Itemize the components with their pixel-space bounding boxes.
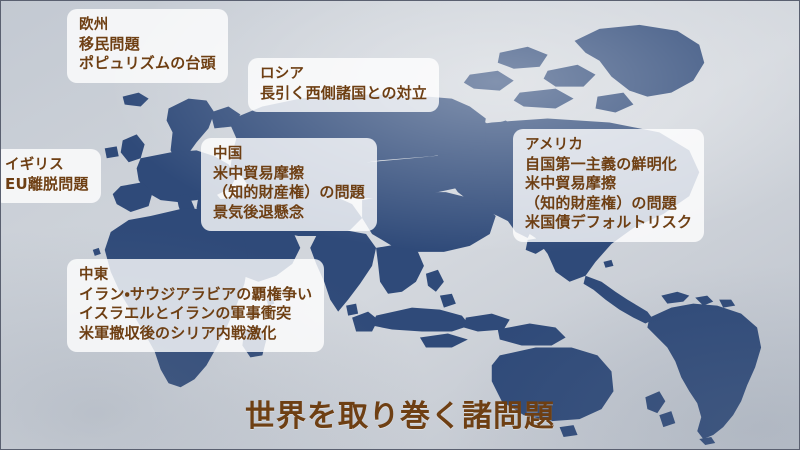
slide-title: 世界を取り巻く諸問題: [1, 391, 799, 435]
callout-middle-east-line-1: イラン・サウジアラビアの覇権争い: [79, 285, 312, 305]
callout-russia-line-1: 長引く西側諸国との対立: [260, 84, 427, 104]
callout-europe: 欧州 移民問題 ポピュリズムの台頭: [67, 9, 228, 83]
callout-america-line-1: 自国第一主義の鮮明化: [525, 155, 692, 175]
callout-china-line-1: 米中貿易摩擦: [213, 164, 365, 184]
callout-china-line-2: （知的財産権）の問題: [213, 183, 365, 203]
callout-america: アメリカ 自国第一主義の鮮明化 米中貿易摩擦 （知的財産権）の問題 米国債デフォ…: [513, 129, 704, 242]
callout-uk-region: イギリス: [5, 156, 89, 175]
callout-america-region: アメリカ: [525, 136, 692, 155]
callout-europe-line-1: 移民問題: [79, 35, 216, 55]
callout-uk: イギリス EU離脱問題: [0, 149, 101, 203]
callout-uk-line-1: EU離脱問題: [5, 175, 89, 195]
callout-china-region: 中国: [213, 145, 365, 164]
callout-china: 中国 米中貿易摩擦 （知的財産権）の問題 景気後退懸念: [201, 138, 377, 231]
callout-america-line-3: （知的財産権）の問題: [525, 194, 692, 214]
callout-russia-region: ロシア: [260, 65, 427, 84]
callout-china-line-3: 景気後退懸念: [213, 203, 365, 223]
callout-europe-region: 欧州: [79, 16, 216, 35]
callout-america-line-2: 米中貿易摩擦: [525, 174, 692, 194]
callout-middle-east-line-3: 米軍撤収後のシリア内戦激化: [79, 324, 312, 344]
callout-america-line-4: 米国債デフォルトリスク: [525, 213, 692, 233]
callout-middle-east: 中東 イラン・サウジアラビアの覇権争い イスラエルとイランの軍事衝突 米軍撤収後…: [67, 259, 324, 352]
callout-middle-east-region: 中東: [79, 266, 312, 285]
callout-russia: ロシア 長引く西側諸国との対立: [248, 58, 439, 112]
callout-middle-east-line-2: イスラエルとイランの軍事衝突: [79, 304, 312, 324]
world-issues-slide: 欧州 移民問題 ポピュリズムの台頭 ロシア 長引く西側諸国との対立 イギリス E…: [0, 0, 800, 450]
callout-europe-line-2: ポピュリズムの台頭: [79, 54, 216, 74]
